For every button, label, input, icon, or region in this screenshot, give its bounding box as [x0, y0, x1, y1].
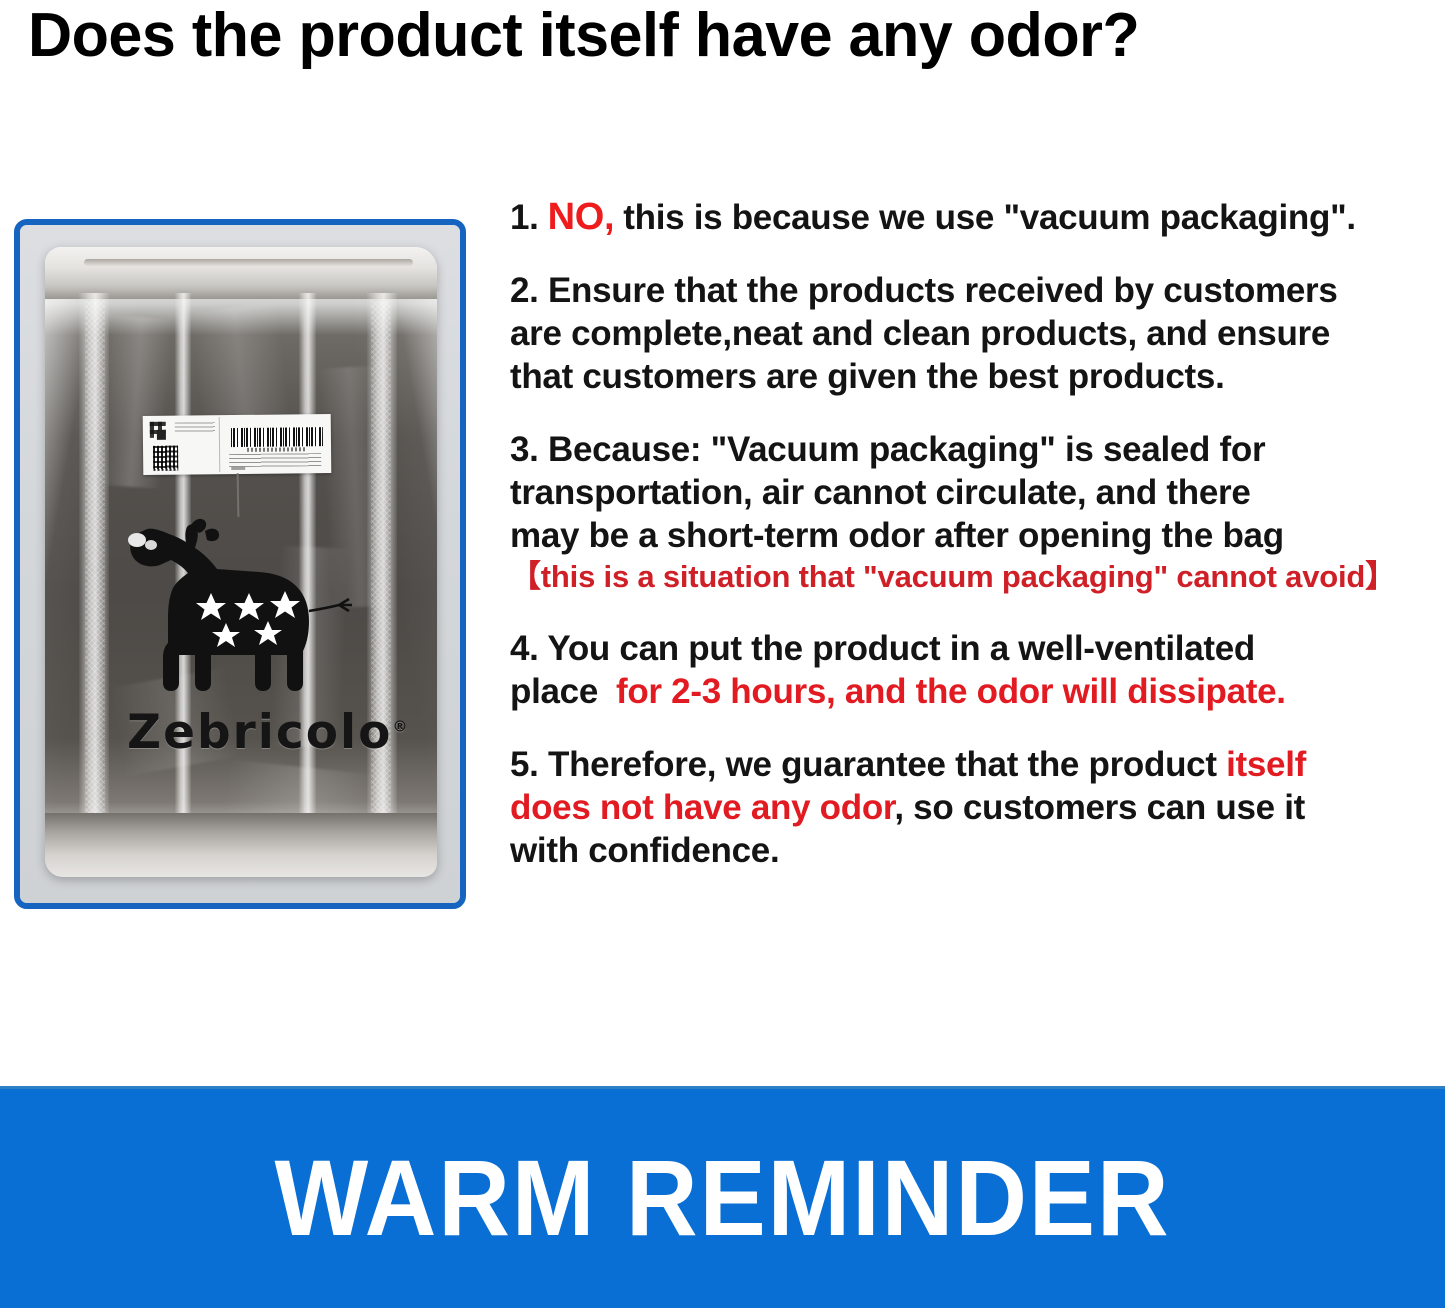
barcode-number — [247, 447, 305, 452]
label-fine-print — [229, 453, 321, 467]
shipping-label — [143, 414, 332, 475]
list-item-4: 4. You can put the product in a well-ven… — [510, 627, 1410, 713]
item-2-line-3: that customers are given the best produc… — [510, 355, 1410, 398]
banner-title: WARM REMINDER — [58, 1139, 1387, 1257]
list-item-5: 5. Therefore, we guarantee that the prod… — [510, 743, 1410, 872]
vacuum-sealed-bag: Zebricolo® — [45, 247, 437, 877]
bag-top-seal — [45, 247, 437, 299]
page-title: Does the product itself have any odor? — [28, 0, 1407, 78]
item-2-line-2: are complete,neat and clean products, an… — [510, 312, 1410, 355]
barcode-icon — [231, 427, 323, 447]
item-5-lead: 5. Therefore, we guarantee that the prod… — [510, 745, 1226, 784]
datamatrix-icon — [157, 430, 166, 440]
item-3-note: 【this is a situation that "vacuum packag… — [510, 557, 1410, 597]
product-photo-frame: Zebricolo® — [14, 219, 466, 909]
item-5-emphasis: does not have any odor — [510, 788, 894, 827]
item-5-line-2: does not have any odor, so customers can… — [510, 786, 1410, 829]
label-divider — [219, 417, 221, 472]
item-5-line-3: with confidence. — [510, 829, 1410, 872]
item-4-emphasis: for 2-3 hours, and the odor will dissipa… — [616, 672, 1286, 711]
reasons-list: 1.NO,this is because we use "vacuum pack… — [510, 196, 1410, 872]
item-5-line-1: 5. Therefore, we guarantee that the prod… — [510, 743, 1410, 786]
warm-reminder-banner: WARM REMINDER — [0, 1086, 1445, 1308]
item-5-itself: itself — [1226, 745, 1306, 784]
list-item-3: 3. Because: "Vacuum packaging" is sealed… — [510, 428, 1410, 597]
item-3-line-2: transportation, air cannot circulate, an… — [510, 471, 1410, 514]
product-photo: Zebricolo® — [20, 225, 460, 903]
mesh-texture — [85, 301, 105, 815]
brand-name: Zebricolo — [127, 705, 392, 760]
qr-code-icon — [153, 446, 178, 471]
plastic-highlight — [189, 303, 291, 432]
label-code — [231, 467, 245, 470]
item-1-number: 1. — [510, 198, 539, 237]
item-4-place: place — [510, 672, 598, 711]
item-1-line: 1.NO,this is because we use "vacuum pack… — [510, 196, 1410, 239]
list-item-1: 1.NO,this is because we use "vacuum pack… — [510, 196, 1410, 239]
zebra-logo-icon — [125, 515, 365, 711]
label-string — [237, 473, 239, 517]
item-4-line-2: placefor 2-3 hours, and the odor will di… — [510, 670, 1410, 713]
brand-wordmark: Zebricolo® — [127, 709, 409, 756]
item-4-line-1: 4. You can put the product in a well-ven… — [510, 627, 1410, 670]
item-3-line-3: may be a short-term odor after opening t… — [510, 514, 1410, 557]
item-2-line-1: 2. Ensure that the products received by … — [510, 269, 1410, 312]
item-5-tail: , so customers can use it — [894, 788, 1305, 827]
item-1-rest: this is because we use "vacuum packaging… — [623, 198, 1356, 237]
item-1-no-word: NO, — [548, 196, 615, 238]
label-address-text — [175, 422, 215, 433]
item-3-line-1: 3. Because: "Vacuum packaging" is sealed… — [510, 428, 1410, 471]
registered-mark: ® — [392, 717, 409, 735]
list-item-2: 2. Ensure that the products received by … — [510, 269, 1410, 398]
bag-bottom-seal — [45, 813, 437, 877]
